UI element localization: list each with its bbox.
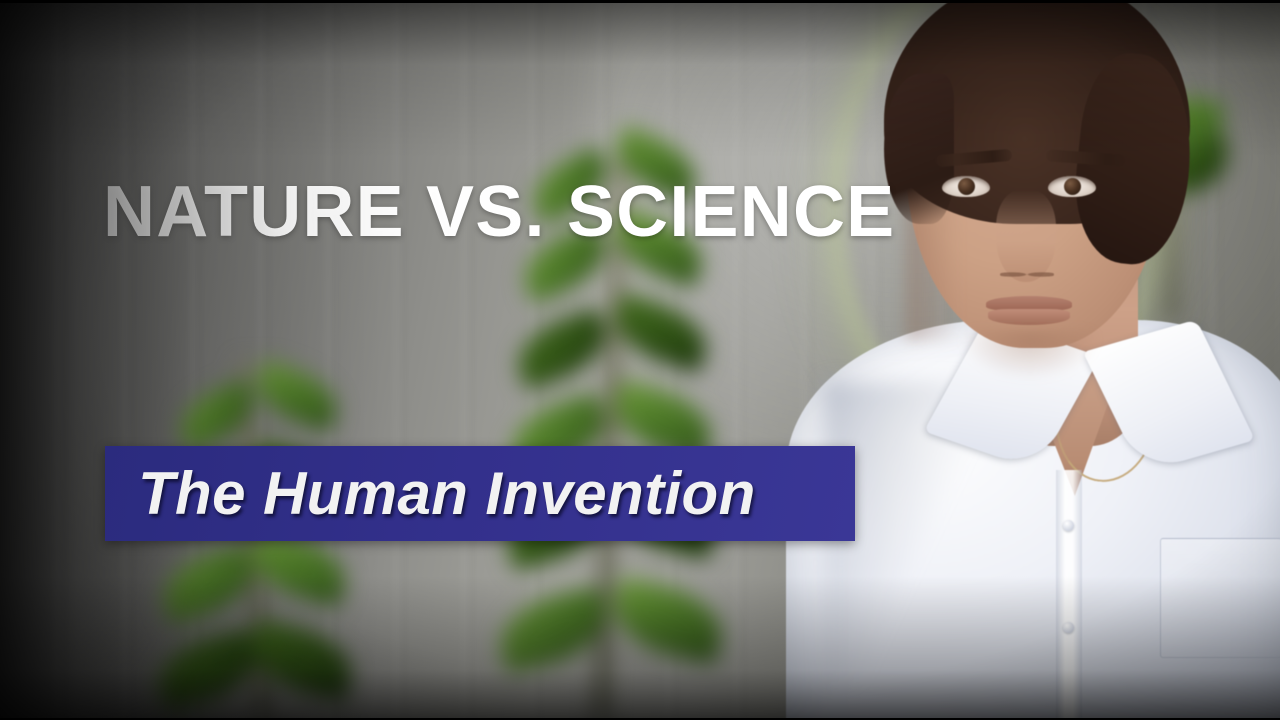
plant-leaf (154, 543, 263, 626)
shirt-button (1063, 520, 1074, 531)
video-frame: NATURE VS. SCIENCE The Human Invention (0, 0, 1280, 720)
nostrils (1000, 268, 1054, 281)
title-text: NATURE VS. SCIENCE (103, 176, 895, 248)
plant-leaf (248, 359, 345, 434)
shirt-button (1063, 622, 1074, 633)
plant-leaf (508, 307, 617, 392)
subtitle-text: The Human Invention (138, 459, 756, 528)
shirt-chest-pocket (1160, 538, 1280, 658)
background-photo (0, 0, 1280, 720)
pupil-left (958, 178, 975, 195)
lower-lip (988, 309, 1070, 325)
subject-person (810, 0, 1280, 720)
plant-leaf (150, 628, 266, 713)
letterbox-bar-top (0, 0, 1280, 3)
chin-shadow (960, 330, 1100, 380)
plant-leaf (606, 576, 730, 666)
plant-leaf (606, 292, 716, 375)
subtitle-banner: The Human Invention (105, 446, 855, 541)
shirt-placket (1056, 470, 1082, 720)
pupil-right (1064, 178, 1081, 195)
